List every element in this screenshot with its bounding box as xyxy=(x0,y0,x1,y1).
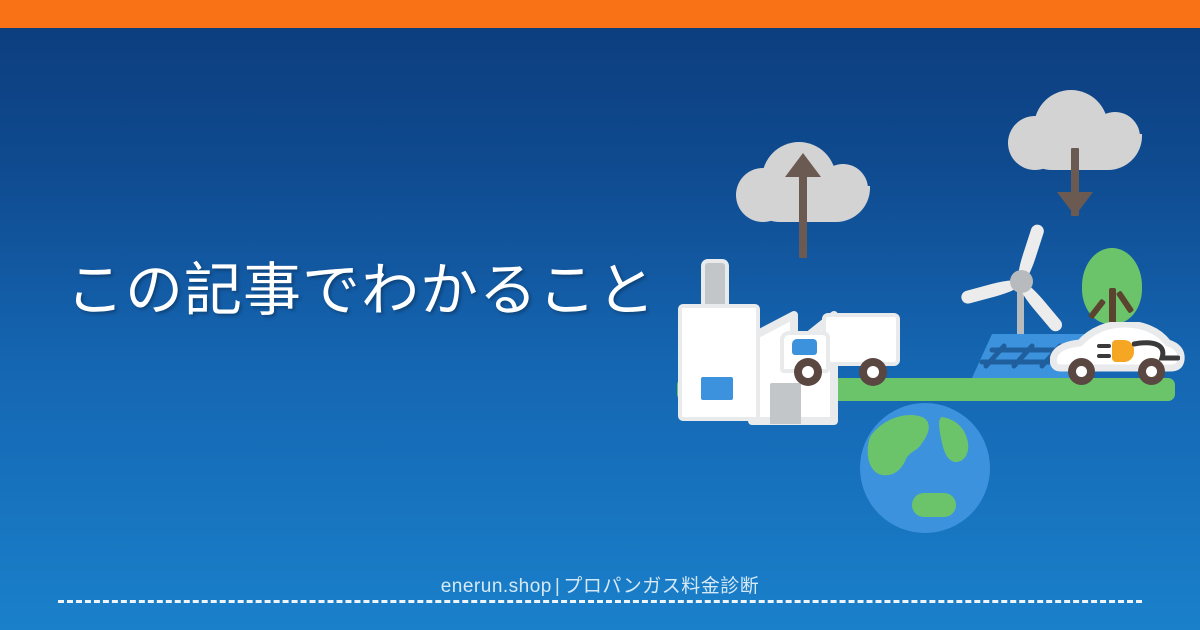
footer-divider xyxy=(58,600,1142,603)
car-wheel-front xyxy=(1068,358,1095,385)
footer-separator: | xyxy=(552,576,563,597)
factory-window xyxy=(701,377,733,400)
electric-car-icon xyxy=(1050,322,1185,384)
plug-icon-prong-bottom xyxy=(1097,354,1111,358)
slide-canvas: この記事でわかること xyxy=(0,0,1200,630)
factory-body xyxy=(678,304,760,421)
accent-top-bar xyxy=(0,0,1200,28)
globe-icon xyxy=(860,403,990,533)
footer-site-name: enerun.shop xyxy=(441,576,552,597)
plug-icon-body xyxy=(1112,340,1134,362)
page-title: この記事でわかること xyxy=(66,255,656,328)
arrow-down-icon-head xyxy=(1057,192,1093,216)
footer-credit: enerun.shop|プロパンガス料金診断 xyxy=(0,571,1200,598)
arrow-up-icon-head xyxy=(785,153,821,177)
turbine-hub xyxy=(1010,270,1033,293)
truck-wheel-front xyxy=(794,358,822,386)
car-wheel-rear xyxy=(1138,358,1165,385)
illustration-energy-scene xyxy=(660,60,1200,560)
factory-door xyxy=(770,383,801,424)
globe-continents xyxy=(860,403,990,533)
footer-tagline: プロパンガス料金診断 xyxy=(563,576,759,597)
cloud-icon-absorption xyxy=(1008,90,1151,175)
arrow-up-icon-shaft xyxy=(799,175,807,258)
truck-window xyxy=(792,339,817,355)
truck-wheel-rear xyxy=(859,358,887,386)
plug-icon-prong-top xyxy=(1097,344,1111,348)
truck-cargo-box xyxy=(822,313,900,366)
